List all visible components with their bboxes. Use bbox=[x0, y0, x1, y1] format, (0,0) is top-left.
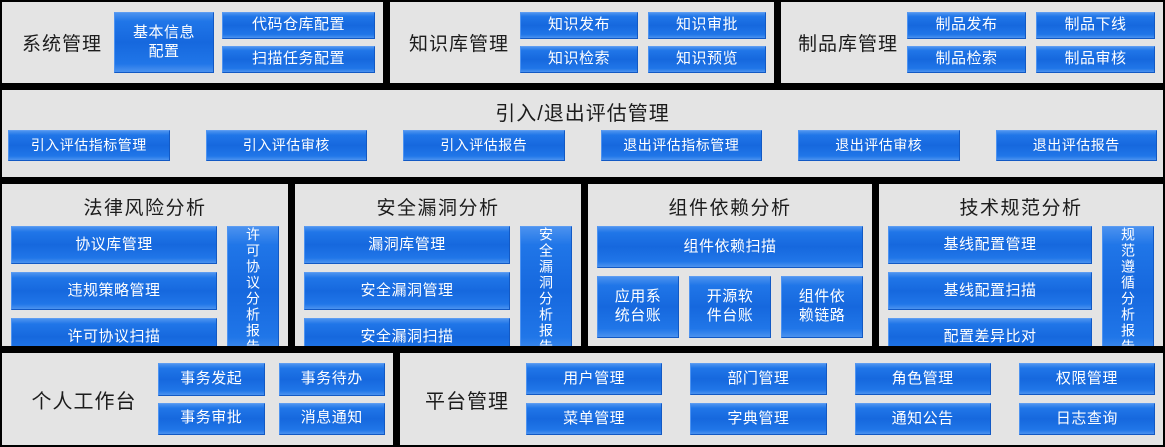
panel-intro-exit-evaluation: 引入/退出评估管理 引入评估指标管理 引入评估审核 引入评估报告 退出评估指标管… bbox=[0, 88, 1165, 179]
button-knowledge-search[interactable]: 知识检索 bbox=[520, 46, 638, 73]
button-task-initiate[interactable]: 事务发起 bbox=[158, 363, 265, 395]
button-exit-eval-report[interactable]: 退出评估报告 bbox=[996, 130, 1158, 161]
technical-specification-buttons: 基线配置管理 基线配置扫描 配置差异比对 bbox=[888, 226, 1092, 348]
button-intro-eval-report[interactable]: 引入评估报告 bbox=[403, 130, 565, 161]
button-message-notification[interactable]: 消息通知 bbox=[279, 403, 386, 435]
button-log-query[interactable]: 日志查询 bbox=[1019, 403, 1155, 435]
button-baseline-config-scan[interactable]: 基线配置扫描 bbox=[888, 272, 1092, 310]
button-permission-management[interactable]: 权限管理 bbox=[1019, 363, 1155, 395]
button-exit-eval-indicator-management[interactable]: 退出评估指标管理 bbox=[601, 130, 763, 161]
button-scan-task-config[interactable]: 扫描任务配置 bbox=[222, 46, 375, 73]
evaluation-buttons: 引入评估指标管理 引入评估审核 引入评估报告 退出评估指标管理 退出评估审核 退… bbox=[8, 129, 1157, 171]
button-product-search[interactable]: 制品检索 bbox=[907, 46, 1026, 73]
button-baseline-config-management[interactable]: 基线配置管理 bbox=[888, 226, 1092, 264]
security-vulnerability-buttons: 漏洞库管理 安全漏洞管理 安全漏洞扫描 bbox=[304, 226, 510, 348]
panel-title-component-dependency-analysis: 组件依赖分析 bbox=[597, 186, 863, 226]
button-notification-announcement[interactable]: 通知公告 bbox=[855, 403, 991, 435]
panel-title-personal-workbench: 个人工作台 bbox=[10, 385, 158, 414]
row-top-modules: 系统管理 基本信息 配置 代码仓库配置 扫描任务配置 知识库管理 知识发布 知识… bbox=[0, 0, 1165, 85]
panel-title-platform-management: 平台管理 bbox=[408, 385, 526, 414]
system-management-buttons: 基本信息 配置 代码仓库配置 扫描任务配置 bbox=[114, 8, 375, 77]
button-menu-management[interactable]: 菜单管理 bbox=[526, 403, 662, 435]
panel-personal-workbench: 个人工作台 事务发起 事务待办 事务审批 消息通知 bbox=[0, 351, 395, 447]
button-application-system-ledger[interactable]: 应用系 统台账 bbox=[597, 276, 679, 338]
panel-title-product-repo-management: 制品库管理 bbox=[789, 29, 907, 56]
row-bottom-modules: 个人工作台 事务发起 事务待办 事务审批 消息通知 平台管理 用户管理 部门管理… bbox=[0, 351, 1165, 447]
panel-system-management: 系统管理 基本信息 配置 代码仓库配置 扫描任务配置 bbox=[0, 0, 385, 85]
panel-title-knowledge-base-management: 知识库管理 bbox=[398, 29, 520, 56]
panel-knowledge-base-management: 知识库管理 知识发布 知识审批 知识检索 知识预览 bbox=[388, 0, 776, 85]
button-code-repo-config[interactable]: 代码仓库配置 bbox=[222, 12, 375, 39]
legal-risk-buttons: 协议库管理 违规策略管理 许可协议扫描 bbox=[11, 226, 217, 348]
row-analysis-modules: 法律风险分析 协议库管理 违规策略管理 许可协议扫描 许可协议分析报告 安全漏洞… bbox=[0, 182, 1165, 348]
button-product-review[interactable]: 制品审核 bbox=[1036, 46, 1155, 73]
button-license-analysis-report[interactable]: 许可协议分析报告 bbox=[227, 226, 279, 348]
button-component-dependency-scan[interactable]: 组件依赖扫描 bbox=[597, 226, 863, 268]
button-config-difference-comparison[interactable]: 配置差异比对 bbox=[888, 318, 1092, 348]
panel-title-system-management: 系统管理 bbox=[10, 29, 114, 56]
personal-workbench-buttons: 事务发起 事务待办 事务审批 消息通知 bbox=[158, 359, 385, 439]
button-violation-policy-management[interactable]: 违规策略管理 bbox=[11, 272, 217, 310]
panel-security-vulnerability-analysis: 安全漏洞分析 漏洞库管理 安全漏洞管理 安全漏洞扫描 安全漏洞分析报告 bbox=[293, 182, 583, 348]
panel-title-intro-exit-evaluation: 引入/退出评估管理 bbox=[8, 92, 1157, 129]
module-architecture-board: 系统管理 基本信息 配置 代码仓库配置 扫描任务配置 知识库管理 知识发布 知识… bbox=[0, 0, 1165, 447]
button-component-dependency-chain[interactable]: 组件依 赖链路 bbox=[781, 276, 863, 338]
button-security-vulnerability-scan[interactable]: 安全漏洞扫描 bbox=[304, 318, 510, 348]
button-task-pending[interactable]: 事务待办 bbox=[279, 363, 386, 395]
button-knowledge-publish[interactable]: 知识发布 bbox=[520, 12, 638, 39]
panel-title-legal-risk-analysis: 法律风险分析 bbox=[11, 186, 279, 226]
button-basic-info-config[interactable]: 基本信息 配置 bbox=[114, 12, 214, 73]
button-vulnerability-library-management[interactable]: 漏洞库管理 bbox=[304, 226, 510, 264]
button-task-approval[interactable]: 事务审批 bbox=[158, 403, 265, 435]
button-security-vulnerability-management[interactable]: 安全漏洞管理 bbox=[304, 272, 510, 310]
button-security-analysis-report[interactable]: 安全漏洞分析报告 bbox=[520, 226, 572, 348]
panel-component-dependency-analysis: 组件依赖分析 组件依赖扫描 应用系 统台账 开源软 件台账 组件依 赖链路 bbox=[586, 182, 874, 348]
panel-platform-management: 平台管理 用户管理 部门管理 角色管理 权限管理 菜单管理 字典管理 通知公告 … bbox=[398, 351, 1165, 447]
button-license-library-management[interactable]: 协议库管理 bbox=[11, 226, 217, 264]
button-specification-compliance-report[interactable]: 规范遵循分析报告 bbox=[1102, 226, 1154, 348]
button-product-publish[interactable]: 制品发布 bbox=[907, 12, 1026, 39]
button-department-management[interactable]: 部门管理 bbox=[690, 363, 826, 395]
panel-title-security-vulnerability-analysis: 安全漏洞分析 bbox=[304, 186, 572, 226]
button-user-management[interactable]: 用户管理 bbox=[526, 363, 662, 395]
button-intro-eval-review[interactable]: 引入评估审核 bbox=[206, 130, 368, 161]
button-knowledge-approval[interactable]: 知识审批 bbox=[648, 12, 766, 39]
button-product-offline[interactable]: 制品下线 bbox=[1036, 12, 1155, 39]
button-dictionary-management[interactable]: 字典管理 bbox=[690, 403, 826, 435]
panel-technical-specification-analysis: 技术规范分析 基线配置管理 基线配置扫描 配置差异比对 规范遵循分析报告 bbox=[877, 182, 1165, 348]
button-knowledge-preview[interactable]: 知识预览 bbox=[648, 46, 766, 73]
knowledge-base-buttons: 知识发布 知识审批 知识检索 知识预览 bbox=[520, 8, 766, 77]
platform-management-buttons: 用户管理 部门管理 角色管理 权限管理 菜单管理 字典管理 通知公告 日志查询 bbox=[526, 359, 1155, 439]
panel-legal-risk-analysis: 法律风险分析 协议库管理 违规策略管理 许可协议扫描 许可协议分析报告 bbox=[0, 182, 290, 348]
row-evaluation-management: 引入/退出评估管理 引入评估指标管理 引入评估审核 引入评估报告 退出评估指标管… bbox=[0, 88, 1165, 179]
button-exit-eval-review[interactable]: 退出评估审核 bbox=[798, 130, 960, 161]
button-open-source-software-ledger[interactable]: 开源软 件台账 bbox=[689, 276, 771, 338]
panel-title-technical-specification-analysis: 技术规范分析 bbox=[888, 186, 1154, 226]
button-role-management[interactable]: 角色管理 bbox=[855, 363, 991, 395]
button-license-agreement-scan[interactable]: 许可协议扫描 bbox=[11, 318, 217, 348]
component-dependency-buttons: 应用系 统台账 开源软 件台账 组件依 赖链路 bbox=[597, 276, 863, 338]
panel-product-repo-management: 制品库管理 制品发布 制品下线 制品检索 制品审核 bbox=[779, 0, 1165, 85]
button-intro-eval-indicator-management[interactable]: 引入评估指标管理 bbox=[8, 130, 170, 161]
product-repo-buttons: 制品发布 制品下线 制品检索 制品审核 bbox=[907, 8, 1155, 77]
